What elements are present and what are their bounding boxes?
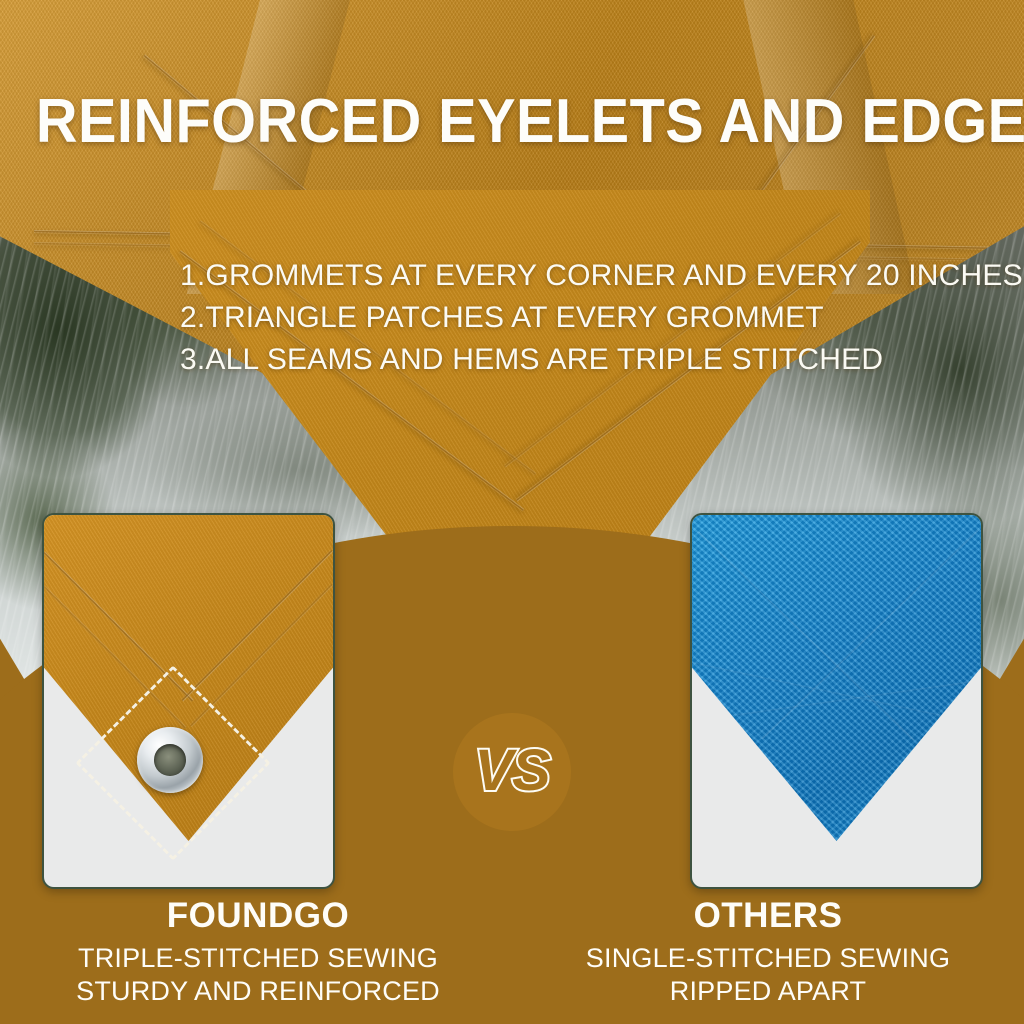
- page-title: REINFORCED EYELETS AND EDGES: [36, 86, 988, 157]
- caption-foundgo: FOUNDGO TRIPLE-STITCHED SEWING STURDY AN…: [18, 896, 498, 1008]
- feature-item-1: 1.GROMMETS AT EVERY CORNER AND EVERY 20 …: [180, 255, 1023, 297]
- vs-badge: VS: [453, 713, 571, 831]
- foundgo-grommet-icon: [137, 727, 203, 793]
- foundgo-desc-line1: TRIPLE-STITCHED SEWING: [18, 942, 498, 975]
- product-comparison-infographic: REINFORCED EYELETS AND EDGES 1.GROMMETS …: [0, 0, 1024, 1024]
- others-tarp-corner: [690, 513, 983, 841]
- caption-others: OTHERS SINGLE-STITCHED SEWING RIPPED APA…: [528, 896, 1008, 1008]
- others-desc-line1: SINGLE-STITCHED SEWING: [528, 942, 1008, 975]
- feature-list: 1.GROMMETS AT EVERY CORNER AND EVERY 20 …: [180, 255, 1023, 381]
- poly-tarp-crease: [697, 531, 914, 741]
- others-brand-label: OTHERS: [528, 896, 1008, 936]
- others-desc-line2: RIPPED APART: [528, 975, 1008, 1008]
- feature-item-3: 3.ALL SEAMS AND HEMS ARE TRIPLE STITCHED: [180, 339, 1023, 381]
- foundgo-desc-line2: STURDY AND REINFORCED: [18, 975, 498, 1008]
- foundgo-brand-label: FOUNDGO: [18, 896, 498, 936]
- comparison-panel-others[interactable]: [690, 513, 983, 889]
- vs-label: VS: [474, 737, 549, 804]
- feature-item-2: 2.TRIANGLE PATCHES AT EVERY GROMMET: [180, 297, 1023, 339]
